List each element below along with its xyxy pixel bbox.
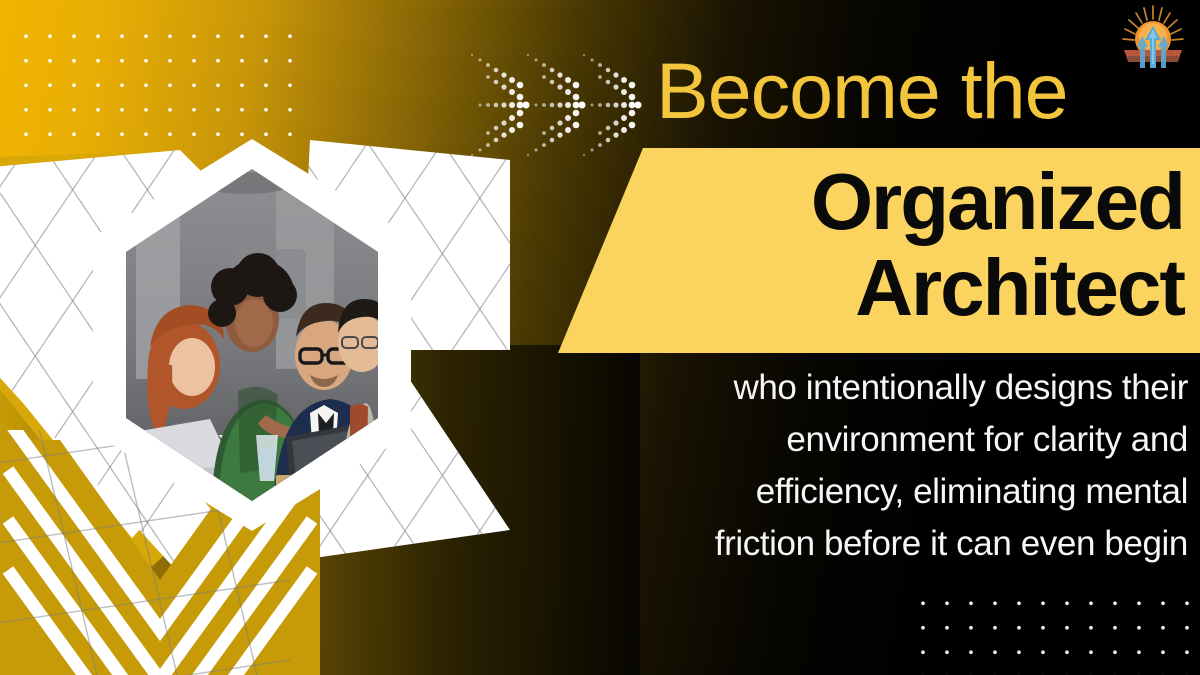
headline-line-top: Become the [656, 48, 1068, 134]
sunrise-arrow-logo-icon [1116, 2, 1190, 72]
headline-yellow-banner: Organized Architect [540, 148, 1200, 353]
body-paragraph: who intentionally designs their environm… [500, 362, 1188, 570]
body-line-2: environment for clarity and [500, 414, 1188, 466]
dot-grid-pattern-top-left [8, 18, 304, 136]
halftone-chevron-arrows-icon [470, 52, 645, 162]
body-line-3: efficiency, eliminating mental [500, 466, 1188, 518]
body-line-1: who intentionally designs their [500, 362, 1188, 414]
headline-banner-line-2: Architect [855, 246, 1184, 330]
body-line-4: friction before it can even begin [500, 518, 1188, 570]
headline-banner-line-1: Organized [811, 160, 1184, 244]
poster-canvas: Become the Organized Architect who inten… [0, 0, 1200, 675]
dot-grid-pattern-bottom-right [905, 585, 1200, 675]
